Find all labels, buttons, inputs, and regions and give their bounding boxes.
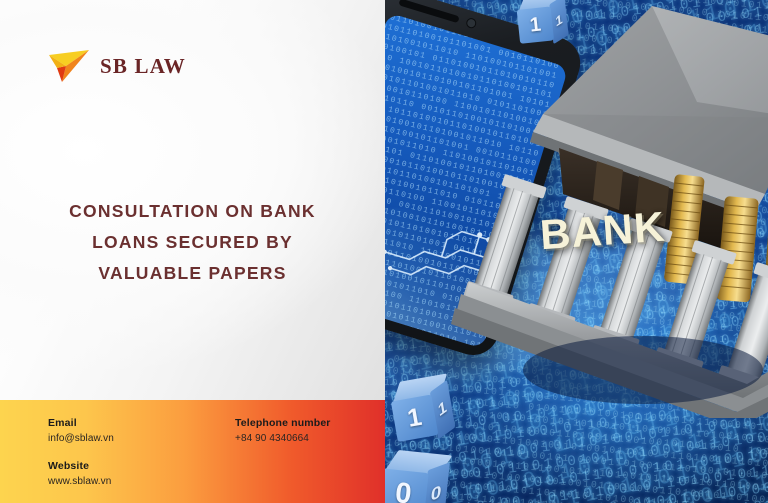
bank-building-illustration — [447, 0, 768, 418]
die-bottom-left-zero: 0 0 — [385, 449, 455, 503]
sb-law-paper-plane-logo-icon — [48, 48, 90, 84]
contact-footer-bar: Email info@sblaw.vn Website www.sblaw.vn… — [0, 400, 385, 503]
email-value[interactable]: info@sblaw.vn — [48, 432, 114, 446]
phone-label: Telephone number — [235, 416, 331, 430]
brand-logo[interactable]: SB LAW — [48, 48, 186, 84]
die-front-face: 1 — [391, 394, 438, 441]
hero-image-bank-digital: 0010110100101101001011010010110100101101… — [385, 0, 768, 503]
contact-column-left: Email info@sblaw.vn Website www.sblaw.vn — [48, 416, 114, 489]
page-title-line-1: CONSULTATION ON BANK — [26, 196, 359, 227]
website-block: Website www.sblaw.vn — [48, 459, 114, 489]
page-title: CONSULTATION ON BANK LOANS SECURED BY VA… — [0, 196, 385, 289]
page-title-line-2: LOANS SECURED BY — [26, 227, 359, 258]
left-content-panel: SB LAW CONSULTATION ON BANK LOANS SECURE… — [0, 0, 385, 503]
die-front-face: 0 — [385, 468, 429, 503]
slide-canvas: SB LAW CONSULTATION ON BANK LOANS SECURE… — [0, 0, 768, 503]
page-title-line-3: VALUABLE PAPERS — [26, 258, 359, 289]
brand-name: SB LAW — [100, 54, 186, 79]
contact-column-right: Telephone number +84 90 4340664 — [235, 416, 331, 446]
website-value[interactable]: www.sblaw.vn — [48, 475, 114, 489]
website-label: Website — [48, 459, 114, 473]
email-label: Email — [48, 416, 114, 430]
phone-value[interactable]: +84 90 4340664 — [235, 432, 331, 446]
